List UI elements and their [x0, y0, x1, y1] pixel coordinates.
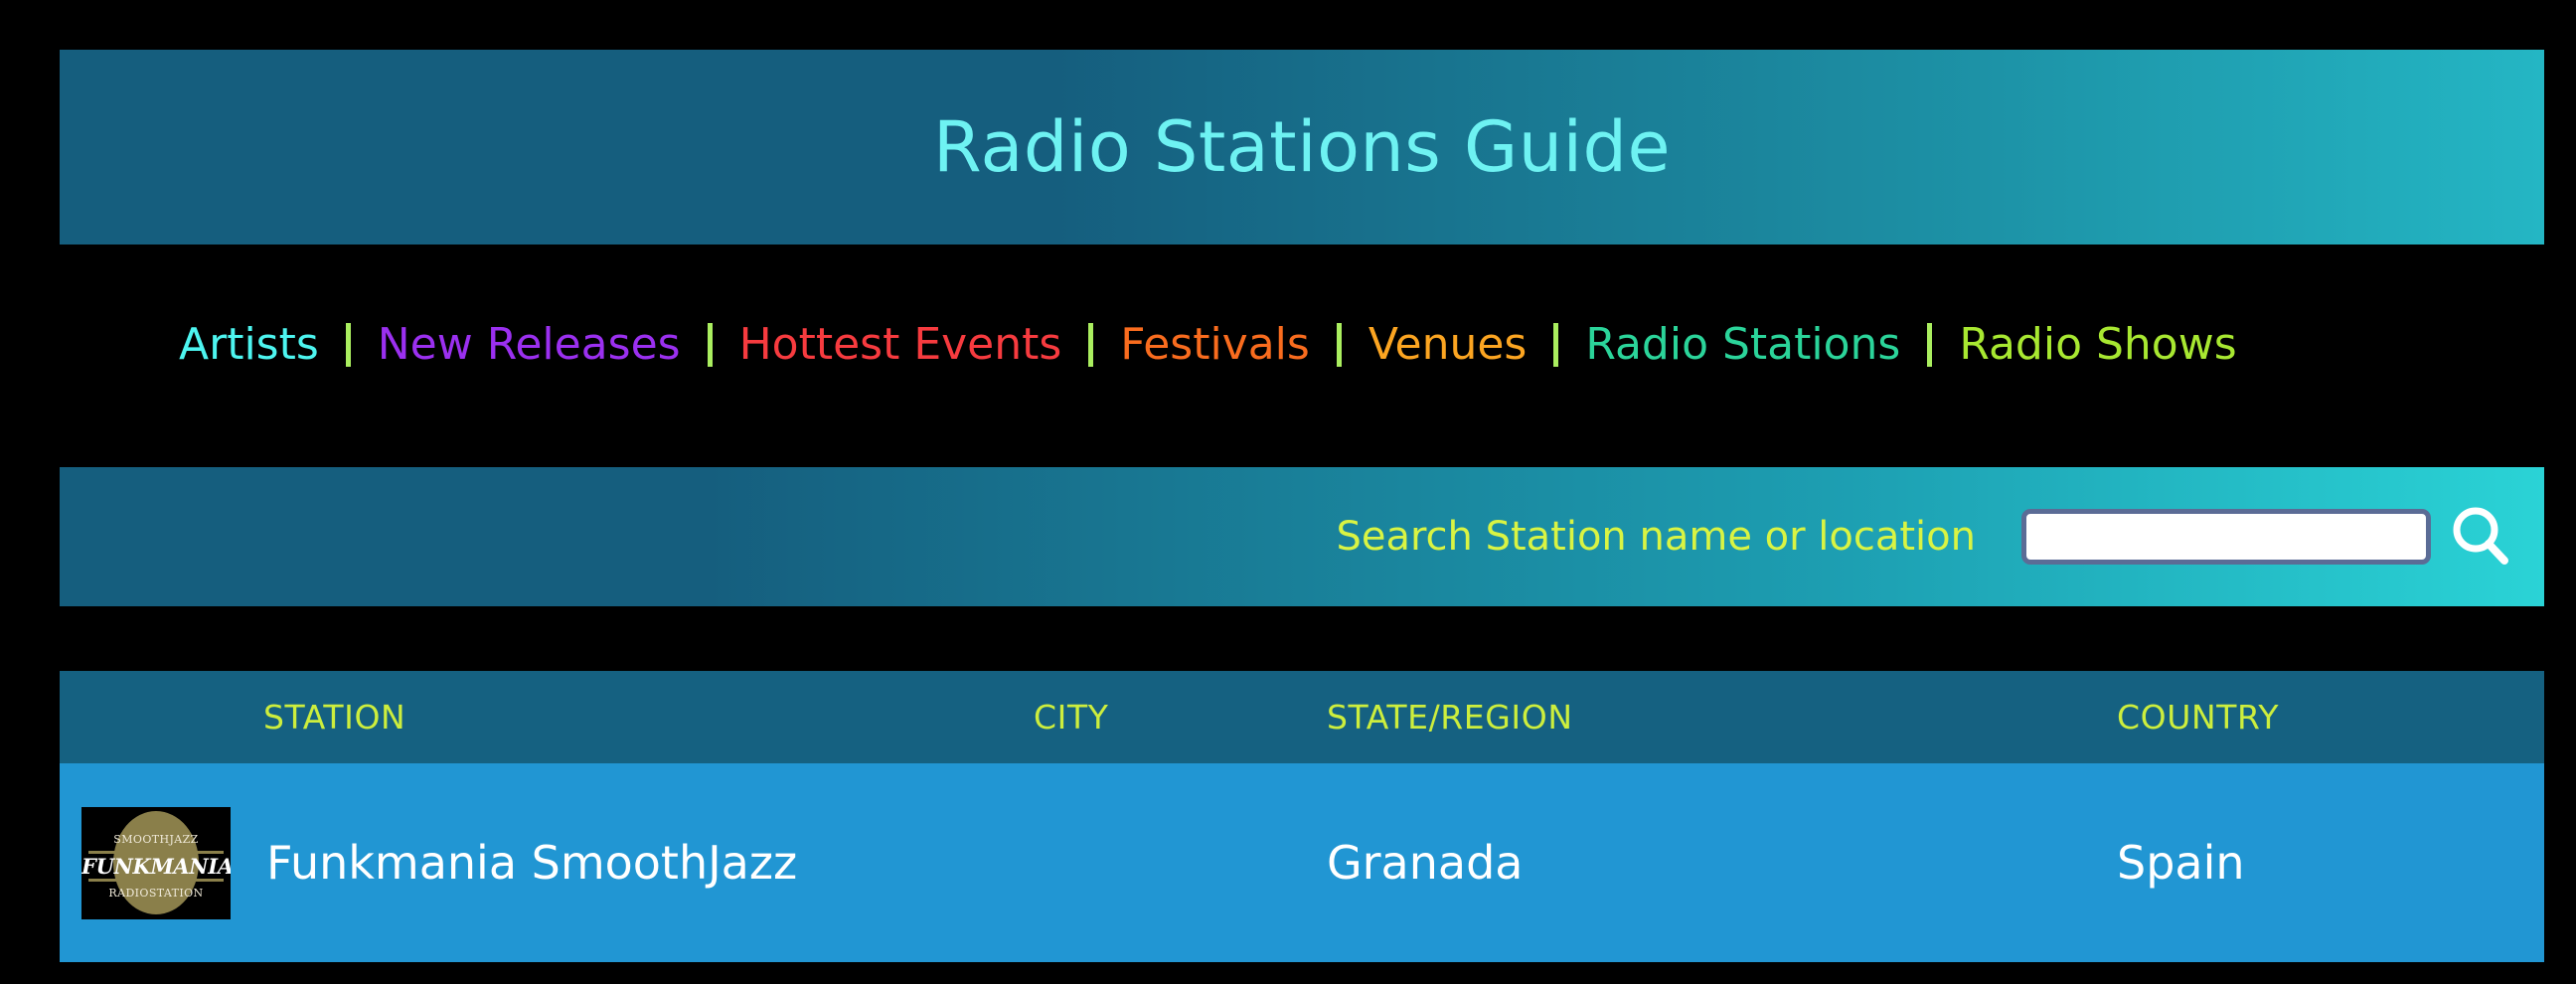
nav-separator-1 [346, 323, 351, 367]
nav-separator-5 [1553, 323, 1558, 367]
nav-separator-6 [1927, 323, 1932, 367]
station-country: Spain [2117, 836, 2245, 890]
search-label: Search Station name or location [1336, 517, 1976, 557]
search-bar: Search Station name or location [60, 467, 2544, 606]
table-row[interactable]: SMOOTHJAZZ FUNKMANIA RADIOSTATION Funkma… [60, 763, 2544, 962]
nav-item-venues[interactable]: Venues [1368, 323, 1528, 367]
main-navigation: ArtistsNew ReleasesHottest EventsFestiva… [60, 308, 2544, 382]
column-header-country: COUNTRY [2117, 698, 2279, 737]
nav-item-festivals[interactable]: Festivals [1120, 323, 1310, 367]
nav-item-artists[interactable]: Artists [179, 323, 319, 367]
page-title: Radio Stations Guide [933, 112, 1671, 182]
search-icon[interactable] [2443, 499, 2518, 574]
logo-rule-bottom [88, 879, 224, 882]
page-banner: Radio Stations Guide [60, 50, 2544, 245]
nav-item-hottest-events[interactable]: Hottest Events [739, 323, 1062, 367]
nav-separator-2 [708, 323, 713, 367]
nav-item-radio-stations[interactable]: Radio Stations [1585, 323, 1900, 367]
nav-separator-4 [1337, 323, 1342, 367]
column-header-station: STATION [263, 698, 405, 737]
stations-table: STATION CITY STATE/REGION COUNTRY SMOOTH… [60, 671, 2544, 962]
nav-item-new-releases[interactable]: New Releases [378, 323, 681, 367]
station-name: Funkmania SmoothJazz [266, 840, 797, 886]
nav-item-radio-shows[interactable]: Radio Shows [1959, 323, 2236, 367]
column-header-city: CITY [1034, 698, 1109, 737]
logo-bottom-text: RADIOSTATION [81, 888, 231, 899]
logo-top-text: SMOOTHJAZZ [81, 834, 231, 845]
column-header-state: STATE/REGION [1327, 698, 1573, 737]
logo-main-text: FUNKMANIA [81, 856, 231, 877]
nav-separator-3 [1088, 323, 1093, 367]
table-header-row: STATION CITY STATE/REGION COUNTRY [60, 671, 2544, 763]
station-state: Granada [1327, 836, 1523, 890]
station-cell: SMOOTHJAZZ FUNKMANIA RADIOSTATION Funkma… [60, 807, 1034, 919]
search-input[interactable] [2021, 509, 2431, 565]
station-logo-icon: SMOOTHJAZZ FUNKMANIA RADIOSTATION [81, 807, 231, 919]
